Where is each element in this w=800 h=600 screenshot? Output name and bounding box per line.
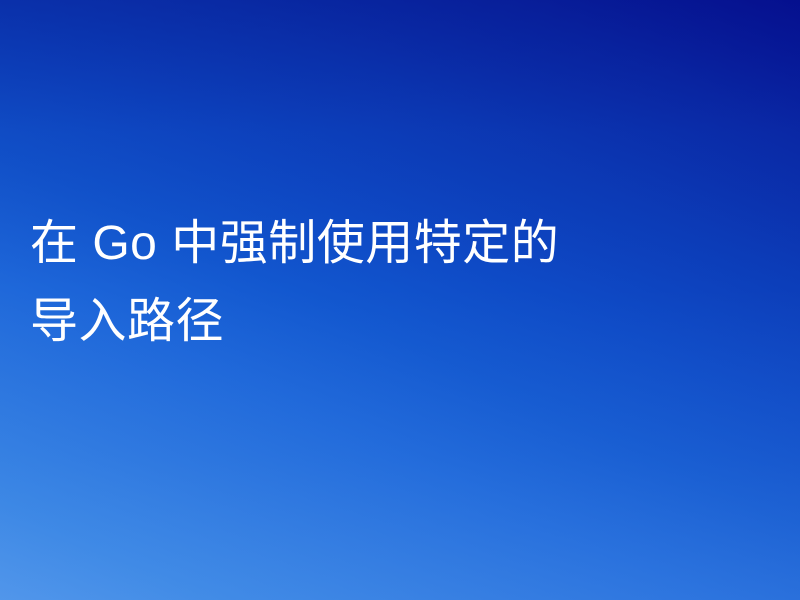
page-title: 在 Go 中强制使用特定的 导入路径	[30, 205, 746, 361]
title-line-2: 导入路径	[30, 283, 746, 361]
title-line-1: 在 Go 中强制使用特定的	[30, 205, 746, 283]
title-slide: 在 Go 中强制使用特定的 导入路径	[0, 0, 800, 600]
